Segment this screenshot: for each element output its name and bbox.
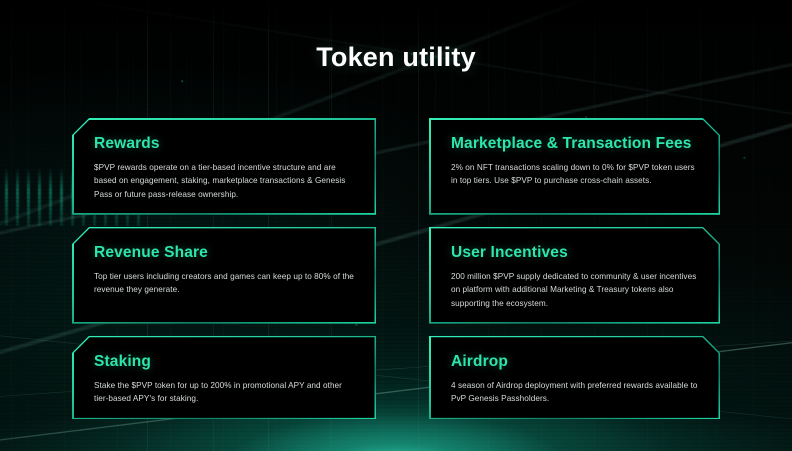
utility-card-marketplace-transaction-fees[interactable]: Marketplace & Transaction Fees 2% on NFT… [429,118,720,215]
utility-card-staking[interactable]: Staking Stake the $PVP token for up to 2… [72,336,376,420]
utility-card-rewards[interactable]: Rewards $PVP rewards operate on a tier-b… [72,118,376,215]
utility-card-revenue-share[interactable]: Revenue Share Top tier users including c… [72,227,376,324]
token-utility-card-grid: Rewards $PVP rewards operate on a tier-b… [72,118,720,418]
card-body: $PVP rewards operate on a tier-based inc… [94,161,354,201]
card-body: Stake the $PVP token for up to 200% in p… [94,379,354,406]
token-utility-section: Token utility Rewards $PVP rewards opera… [0,0,792,451]
card-body: 4 season of Airdrop deployment with pref… [451,379,698,406]
card-body: 2% on NFT transactions scaling down to 0… [451,161,698,188]
card-title: Revenue Share [94,244,354,261]
utility-card-airdrop[interactable]: Airdrop 4 season of Airdrop deployment w… [429,336,720,420]
card-title: User Incentives [451,244,698,261]
utility-card-user-incentives[interactable]: User Incentives 200 million $PVP supply … [429,227,720,324]
card-title: Marketplace & Transaction Fees [451,135,698,152]
card-body: 200 million $PVP supply dedicated to com… [451,270,698,310]
card-body: Top tier users including creators and ga… [94,270,354,297]
card-title: Airdrop [451,353,698,370]
card-title: Rewards [94,135,354,152]
page-title: Token utility [0,42,792,73]
card-title: Staking [94,353,354,370]
